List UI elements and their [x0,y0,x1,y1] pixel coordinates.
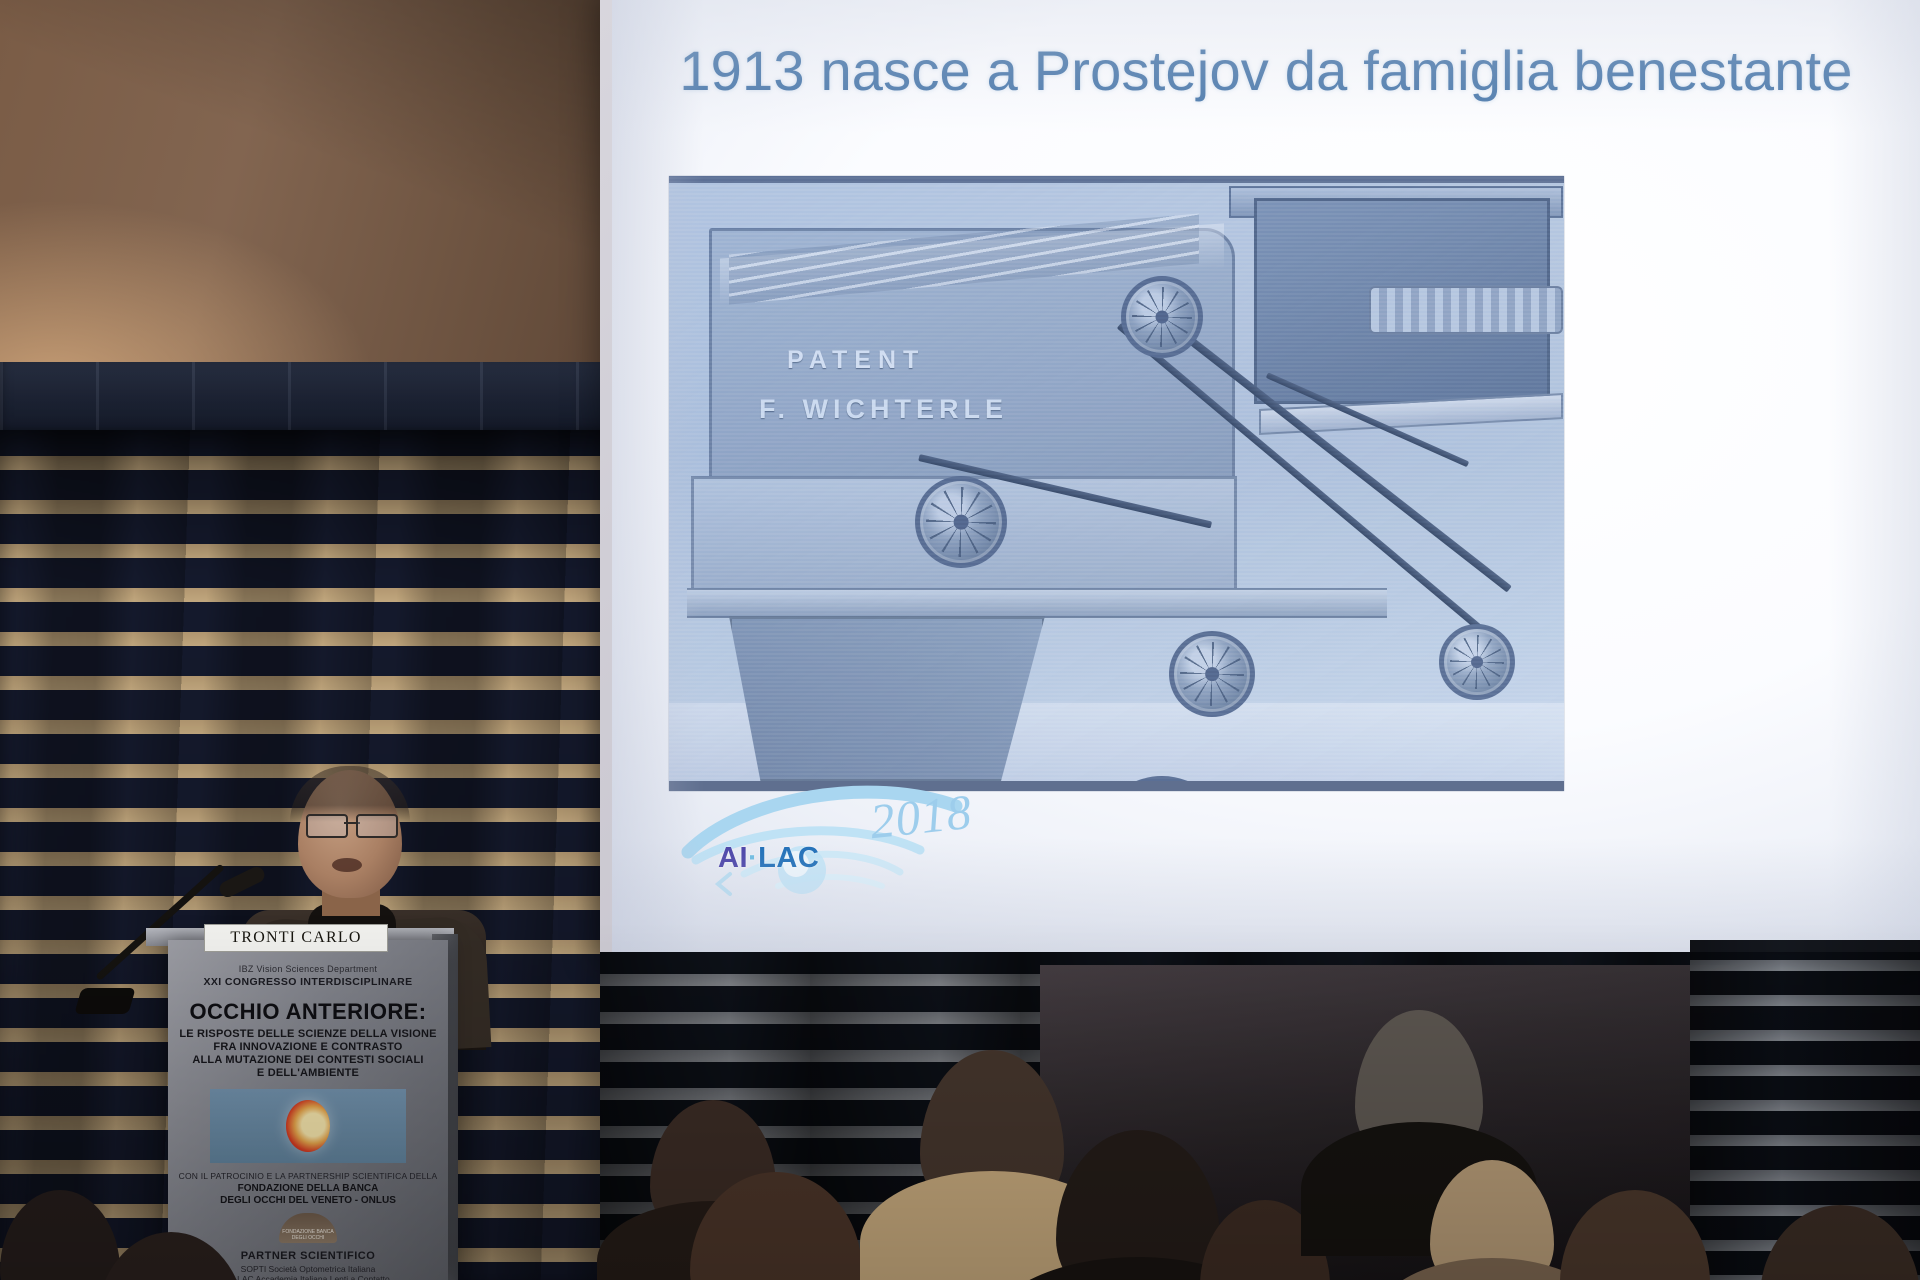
slide-photo: PATENT F. WICHTERLE [669,176,1564,791]
sign-patronage-intro: CON IL PATROCINIO E LA PARTNERSHIP SCIEN… [178,1171,438,1181]
speaker-mouth [332,858,362,872]
sponsor-logo: FONDAZIONE BANCA DEGLI OCCHI [279,1213,337,1243]
microphone-base [74,988,135,1014]
sign-eye-illustration [210,1089,406,1163]
photo-pulley-4 [1439,624,1515,700]
sign-foundation-line-2: DEGLI OCCHI DEL VENETO - ONLUS [178,1195,438,1207]
photo-patent-name: F. WICHTERLE [759,394,1008,425]
nameplate-text: TRONTI CARLO [230,929,361,947]
hall-wall [0,0,640,372]
photo-border-top [669,176,1564,183]
sign-congress: XXI CONGRESSO INTERDISCIPLINARE [178,976,438,988]
sign-foundation-line-1: FONDAZIONE DELLA BANCA [178,1183,438,1195]
sign-subtitle-line-1: LE RISPOSTE DELLE SCIENZE DELLA VISIONE [178,1028,438,1041]
photo-pulley-1 [915,476,1007,568]
podium-sign: IBZ Vision Sciences Department XXI CONGR… [168,962,448,1280]
glasses-icon [306,814,398,834]
ailac-logo: 2018 AI·LAC [674,778,1004,908]
photo-hopper [729,616,1045,782]
photo-pulley-3 [1121,276,1203,358]
logo-lac: LAC [758,842,819,874]
sign-main-title: OCCHIO ANTERIORE: [178,999,438,1025]
sign-subtitle: LE RISPOSTE DELLE SCIENZE DELLA VISIONE … [178,1028,438,1080]
eye-cornea-icon [286,1100,330,1152]
logo-dot: · [748,842,758,874]
projection-screen[interactable]: 1913 nasce a Prostejov da famiglia benes… [612,0,1920,952]
curtain-valance [0,362,642,438]
conference-photo-scene: 1913 nasce a Prostejov da famiglia benes… [0,0,1920,1280]
photo-roller [1369,286,1563,334]
slide-title: 1913 nasce a Prostejov da famiglia benes… [612,38,1920,103]
sign-subtitle-line-2: FRA INNOVAZIONE E CONTRASTO [178,1041,438,1054]
photo-patent-label: PATENT [787,346,925,375]
sign-subtitle-line-3: ALLA MUTAZIONE DEI CONTESTI SOCIALI [178,1054,438,1067]
nameplate: TRONTI CARLO [204,924,388,952]
sign-foundation: FONDAZIONE DELLA BANCA DEGLI OCCHI DEL V… [178,1183,438,1207]
sign-subtitle-line-4: E DELL'AMBIENTE [178,1067,438,1080]
photo-chassis-bar [687,588,1387,618]
logo-acronym: AI·LAC [718,842,819,875]
sign-department: IBZ Vision Sciences Department [178,964,438,974]
sponsor-logo-label: FONDAZIONE BANCA DEGLI OCCHI [279,1229,337,1241]
logo-ai: AI [718,842,748,874]
podium: TRONTI CARLO IBZ Vision Sciences Departm… [168,940,448,1280]
photo-pulley-2 [1169,631,1255,717]
logo-year: 2018 [867,783,974,850]
